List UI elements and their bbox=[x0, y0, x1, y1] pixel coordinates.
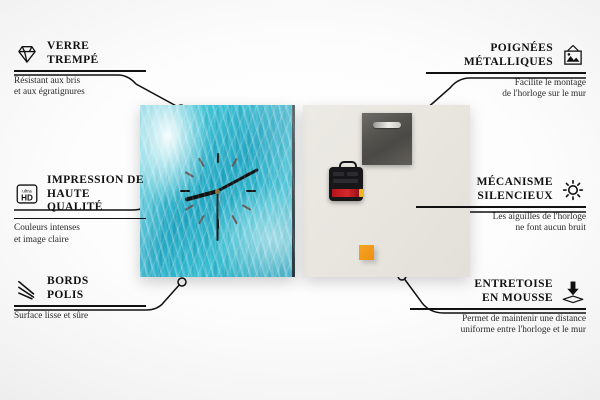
callout-header: MÉCANISME SILENCIEUX bbox=[416, 176, 586, 203]
picture-frame-hanger-icon bbox=[560, 43, 586, 69]
clock-front-panel bbox=[140, 105, 295, 277]
clock-tick bbox=[217, 153, 219, 229]
callout-subtitle-line1: Couleurs intenses bbox=[14, 223, 146, 234]
clock-tick bbox=[180, 190, 256, 192]
clock-hour-hand bbox=[184, 189, 218, 202]
clock-minute-hand bbox=[217, 168, 259, 192]
callout-subtitle-line1: Les aiguilles de l'horloge bbox=[416, 212, 586, 223]
callout-subtitle-line1: Permet de maintenir une distance bbox=[410, 314, 586, 325]
callout-rule bbox=[14, 218, 146, 220]
callout-header: POIGNÉES MÉTALLIQUES bbox=[426, 42, 586, 69]
hanger-slot bbox=[373, 122, 401, 128]
callout-title: BORDS POLIS bbox=[47, 275, 89, 302]
callout-mecanisme-silencieux: MÉCANISME SILENCIEUX Les aiguilles de l'… bbox=[416, 176, 586, 234]
movement-vent bbox=[333, 179, 358, 183]
callout-verre-trempe: VERRE TREMPÉ Résistant aux bris et aux é… bbox=[14, 40, 146, 98]
callout-subtitle-line2: uniforme entre l'horloge et le mur bbox=[410, 325, 586, 336]
quartz-movement bbox=[329, 167, 363, 201]
callout-header: BORDS POLIS bbox=[14, 275, 146, 302]
battery bbox=[332, 189, 360, 197]
svg-text:HD: HD bbox=[21, 194, 33, 203]
metal-hanger-plate bbox=[362, 113, 412, 165]
clock-second-hand bbox=[217, 191, 219, 241]
callout-subtitle-line2: ne font aucun bruit bbox=[416, 223, 586, 234]
callout-entretoise-en-mousse: ENTRETOISE EN MOUSSE Permet de maintenir… bbox=[410, 278, 586, 336]
diamond-icon bbox=[14, 41, 40, 67]
callout-header: ENTRETOISE EN MOUSSE bbox=[410, 278, 586, 305]
clock-tick bbox=[217, 153, 219, 229]
callout-rule bbox=[14, 70, 146, 72]
callout-title: MÉCANISME SILENCIEUX bbox=[477, 176, 553, 203]
clock-tick bbox=[180, 190, 256, 192]
ultra-hd-icon: ultra HD bbox=[14, 181, 40, 207]
clock-center-cap bbox=[215, 189, 220, 194]
callout-poignees-metalliques: POIGNÉES MÉTALLIQUES Facilite le montage… bbox=[426, 42, 586, 100]
clock-tick bbox=[184, 171, 251, 211]
callout-title: ENTRETOISE EN MOUSSE bbox=[474, 278, 553, 305]
clock-tick bbox=[198, 158, 238, 225]
callout-title: IMPRESSION DE HAUTE QUALITÉ bbox=[47, 174, 146, 215]
callout-bords-polis: BORDS POLIS Surface lisse et sûre bbox=[14, 275, 146, 322]
callout-title: VERRE TREMPÉ bbox=[47, 40, 99, 67]
clock-tick bbox=[184, 171, 251, 211]
clock-tick bbox=[198, 158, 238, 225]
movement-vent bbox=[333, 172, 344, 176]
gear-icon bbox=[560, 177, 586, 203]
callout-header: VERRE TREMPÉ bbox=[14, 40, 146, 67]
clock-tick bbox=[184, 171, 251, 211]
callout-header: ultra HD IMPRESSION DE HAUTE QUALITÉ bbox=[14, 174, 146, 215]
foam-spacer bbox=[359, 245, 374, 260]
callout-subtitle-line2: et aux égratignures bbox=[14, 87, 146, 98]
callout-rule bbox=[426, 72, 586, 74]
clock-face bbox=[140, 105, 295, 277]
callout-rule bbox=[416, 206, 586, 208]
callout-subtitle-line2: et image claire bbox=[14, 235, 146, 246]
connector-dot-bords-polis bbox=[178, 278, 186, 286]
movement-hanger-loop bbox=[339, 161, 357, 172]
clock-tick bbox=[184, 171, 251, 211]
clock-tick bbox=[198, 158, 238, 225]
battery-terminal bbox=[359, 189, 364, 197]
infographic-canvas: VERRE TREMPÉ Résistant aux bris et aux é… bbox=[0, 0, 600, 400]
clock-tick bbox=[198, 158, 238, 225]
callout-rule bbox=[410, 308, 586, 310]
movement-vent bbox=[347, 172, 358, 176]
arrow-down-pad-icon bbox=[560, 279, 586, 305]
diagonal-lines-icon bbox=[14, 276, 40, 302]
callout-impression-haute-qualite: ultra HD IMPRESSION DE HAUTE QUALITÉ Cou… bbox=[14, 174, 146, 246]
callout-subtitle-line1: Résistant aux bris bbox=[14, 76, 146, 87]
callout-title: POIGNÉES MÉTALLIQUES bbox=[464, 42, 553, 69]
callout-rule bbox=[14, 305, 146, 307]
callout-subtitle-line1: Facilite le montage bbox=[426, 78, 586, 89]
callout-subtitle-line2: de l'horloge sur le mur bbox=[426, 89, 586, 100]
callout-subtitle-line1: Surface lisse et sûre bbox=[14, 311, 146, 322]
